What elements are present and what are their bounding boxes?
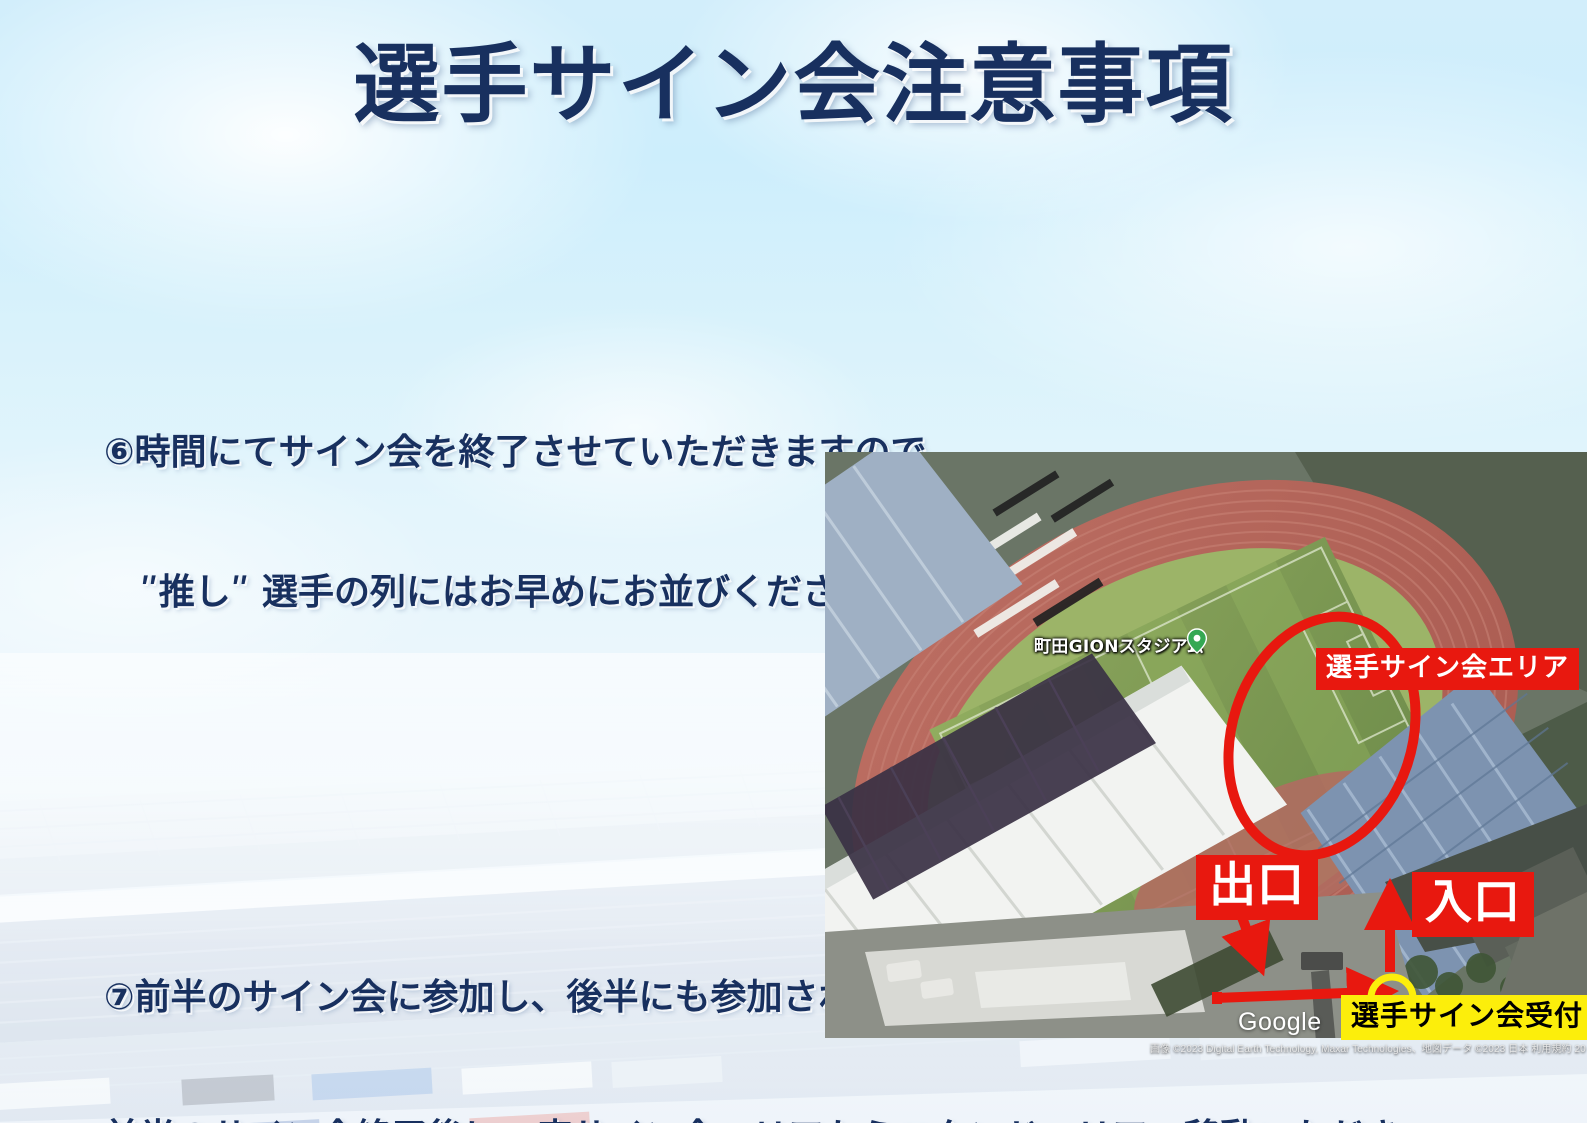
map-attribution: 画像 ©2023 Digital Earth Technology, Maxar… bbox=[1150, 1040, 1587, 1055]
map-pin-icon bbox=[1186, 628, 1208, 654]
aerial-map-art bbox=[825, 452, 1587, 1038]
notice-item-7-line-2: 前半のサイン会終了後に一度サイン会エリアからスタンドエリアへ移動いただき、 bbox=[104, 1115, 1284, 1123]
callout-sign-area: 選手サイン会エリア bbox=[1316, 648, 1579, 690]
callout-exit: 出口 bbox=[1196, 855, 1318, 920]
google-watermark: Google bbox=[1238, 1008, 1322, 1037]
page-title: 選手サイン会注意事項 bbox=[0, 14, 1587, 139]
callout-reception: 選手サイン会受付 bbox=[1341, 995, 1587, 1040]
callout-entrance: 入口 bbox=[1412, 872, 1534, 937]
stadium-aerial-map[interactable] bbox=[825, 452, 1587, 1038]
map-place-label: 町田GIONスタジアム bbox=[1034, 632, 1204, 657]
poster-root: 選手サイン会注意事項 ⑥時間にてサイン会を終了させていただきますので、 ʺ推しʺ… bbox=[0, 0, 1587, 1123]
